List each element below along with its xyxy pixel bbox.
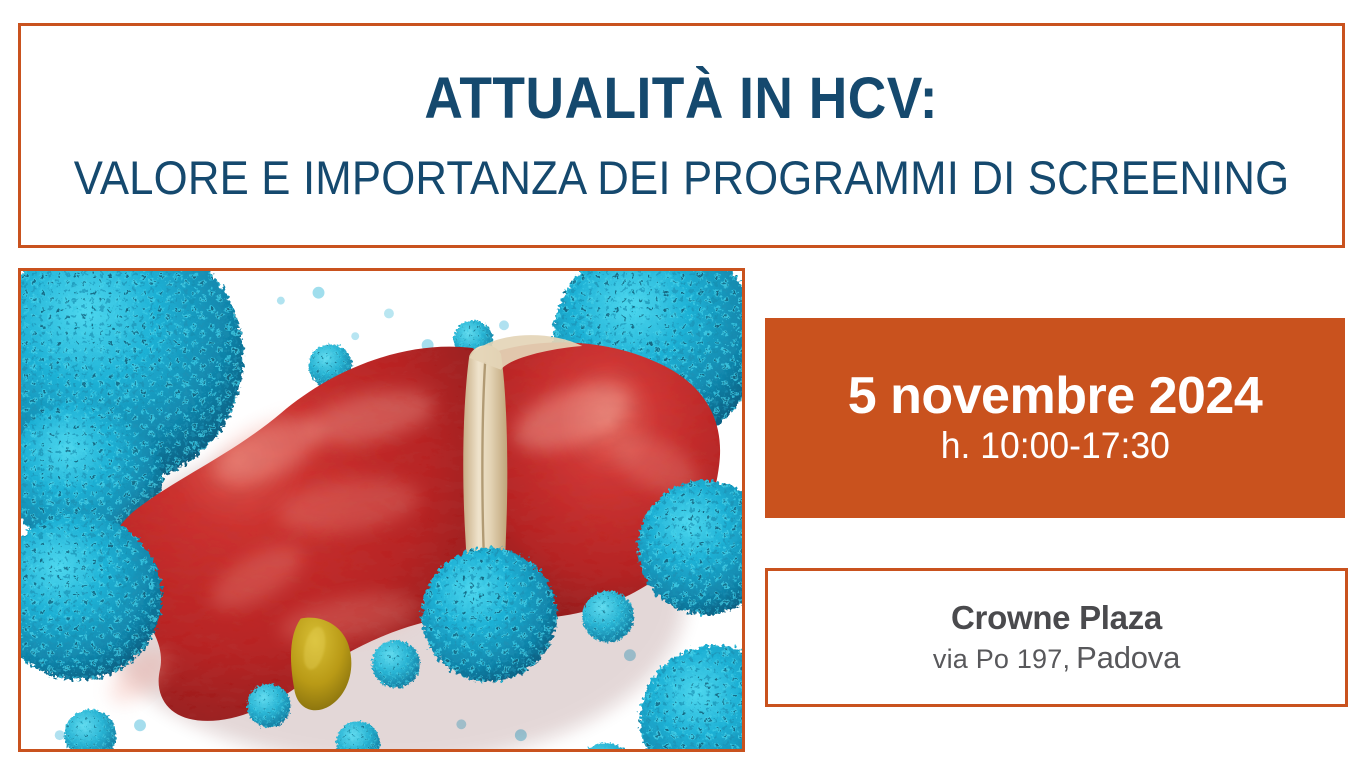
page-title: ATTUALITÀ IN HCV: (425, 69, 939, 128)
liver-hcv-illustration (21, 271, 742, 749)
venue-name: Crowne Plaza (951, 600, 1162, 636)
venue-address: via Po 197, Padova (933, 641, 1180, 675)
venue-card: Crowne Plaza via Po 197, Padova (765, 568, 1348, 707)
event-date-badge: 5 novembre 2024 h. 10:00-17:30 (765, 318, 1345, 518)
virus-particle-bottom-mid-right (582, 591, 634, 642)
venue-street: via Po 197, (933, 645, 1070, 675)
title-banner: ATTUALITÀ IN HCV: VALORE E IMPORTANZA DE… (18, 23, 1345, 248)
illustration-panel (18, 268, 745, 752)
venue-city: Padova (1076, 641, 1180, 675)
virus-particle-bottom-left-small (247, 684, 291, 727)
event-date: 5 novembre 2024 (848, 369, 1263, 424)
virus-particle-bottom-center (372, 640, 420, 687)
virus-particle-center-bottom (422, 548, 557, 682)
event-time: h. 10:00-17:30 (940, 426, 1169, 467)
page-subtitle: VALORE E IMPORTANZA DEI PROGRAMMI DI SCR… (74, 154, 1290, 202)
